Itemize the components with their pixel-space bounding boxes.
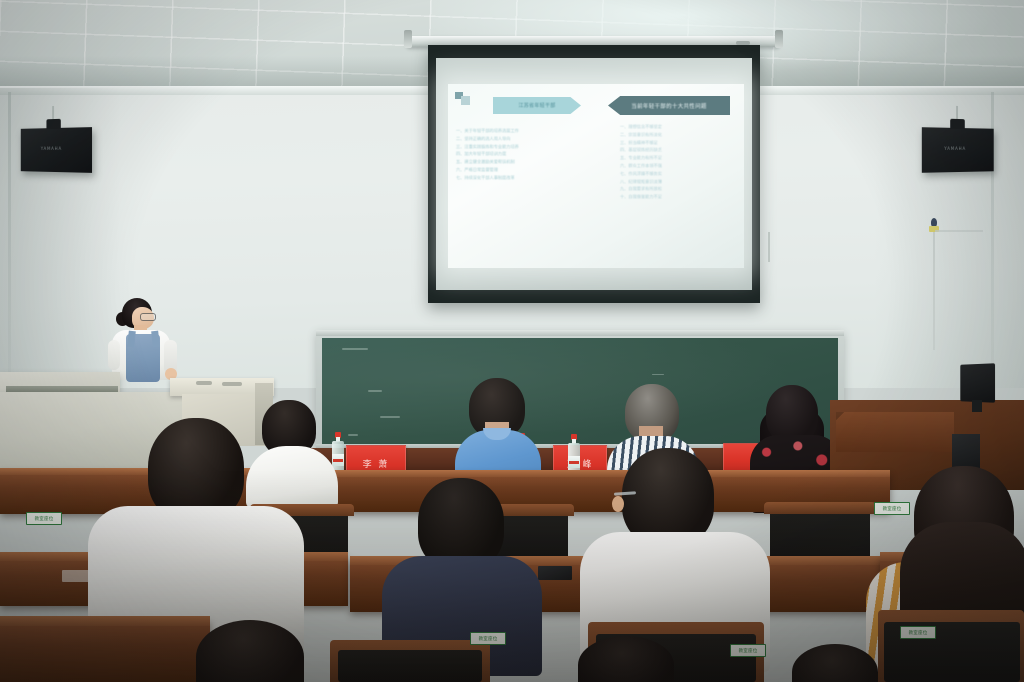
seat-label-text: 教室座位 (35, 516, 54, 522)
seat-back[interactable] (338, 650, 482, 682)
slide-left-line: 五、建立健全激励关爱帮扶机制 (456, 159, 584, 166)
slide-logo-icon (455, 92, 470, 106)
slide-left-line: 七、持续深化干部人事制度改革 (456, 175, 584, 182)
wall-corner-left (8, 92, 11, 392)
student-head (196, 620, 304, 682)
monitor-stand (972, 400, 982, 412)
slide-tag-left-text: 江苏省年轻干部 (518, 102, 555, 109)
wall-speaker-right: YAMAHA (922, 127, 994, 173)
speaker-wire-left (52, 106, 54, 120)
bench-row-front-left (0, 620, 210, 682)
slide-tag-left: 江苏省年轻干部 (493, 97, 581, 114)
wall-conduit-vertical (933, 232, 935, 350)
speaker-brand-right: YAMAHA (944, 146, 966, 151)
seat-label: 教室座位 (26, 512, 62, 525)
seat-label-text: 教室座位 (479, 636, 498, 642)
podium-object[interactable] (196, 381, 212, 385)
speaker-wire-right (956, 106, 958, 120)
screen-cable (768, 232, 770, 262)
roller-bracket-left (404, 30, 412, 48)
student-head (578, 636, 674, 682)
slide-left-line: 二、坚持正确的选人用人导向 (456, 136, 584, 143)
classroom-photo-scene: 江苏省年轻干部 当前年轻干部的十大共性问题 一、关于年轻干部的培养选拔工作 二、… (0, 0, 1024, 682)
seat-label: 教室座位 (470, 632, 506, 645)
student-head-bottom-left (196, 620, 306, 682)
slide-tag-right-text: 当前年轻干部的十大共性问题 (631, 102, 706, 110)
slide-left-line: 四、加大年轻干部培训力度 (456, 151, 584, 158)
slide-right-line: 十、自我借鉴能力不足 (620, 194, 735, 201)
slide-right-line: 五、专业能力有所不足 (620, 155, 735, 162)
student-head-bottom-right (792, 644, 882, 682)
blackboard-top-rail (316, 330, 844, 336)
nameplate-text: 李 萧 (363, 457, 390, 470)
slide-left-line: 一、关于年轻干部的培养选拔工作 (456, 128, 584, 135)
seat-label: 教室座位 (730, 644, 766, 657)
slide-right-line: 二、宗旨意识有所淡化 (620, 132, 735, 139)
speaker-bracket-left (46, 119, 60, 129)
slide-right-line: 八、纪律规矩意识淡薄 (620, 179, 735, 186)
bench-top-edge (0, 616, 210, 626)
wall-conduit-horizontal (935, 230, 983, 232)
wood-panel-pattern (836, 412, 954, 452)
seat-label: 教室座位 (900, 626, 936, 639)
desktop-monitor[interactable] (960, 363, 995, 403)
speaker-brand-left: YAMAHA (41, 146, 62, 151)
seat-label-text: 教室座位 (909, 630, 928, 636)
student-ear (612, 496, 624, 512)
glasses-icon (140, 313, 156, 321)
slide-left-line: 三、注重实践锻炼和专业能力培养 (456, 144, 584, 151)
slide-right-line: 四、基层锐炼经历缺乏 (620, 147, 735, 154)
student-head-bottom-center (578, 636, 676, 682)
roller-bracket-right (775, 30, 783, 48)
slide-right-line: 一、理想信念不够坚定 (620, 124, 735, 131)
slide-right-line: 九、自我要求有所放松 (620, 186, 735, 193)
slide-left-column: 一、关于年轻干部的培养选拔工作 二、坚持正确的选人用人导向 三、注重实践锻炼和专… (456, 128, 584, 243)
bottle-label (568, 456, 580, 468)
slide-right-line: 三、担当精神不够足 (620, 140, 735, 147)
wall-speaker-left: YAMAHA (21, 127, 92, 173)
student-head (792, 644, 878, 682)
slide-right-line: 六、群众工作本领不强 (620, 163, 735, 170)
podium-object[interactable] (222, 382, 242, 386)
seat-label-text: 教室座位 (739, 648, 758, 654)
slide-right-line: 七、作风浮躁不够务实 (620, 171, 735, 178)
slide-left-line: 六、严格日常监督管理 (456, 167, 584, 174)
speaker-bracket-right (950, 119, 965, 129)
slide-tag-right: 当前年轻干部的十大共性问题 (608, 96, 730, 115)
presenter-arm-left (108, 340, 120, 370)
slide-right-column: 一、理想信念不够坚定 二、宗旨意识有所淡化 三、担当精神不够足 四、基层锐炼经历… (620, 124, 735, 264)
